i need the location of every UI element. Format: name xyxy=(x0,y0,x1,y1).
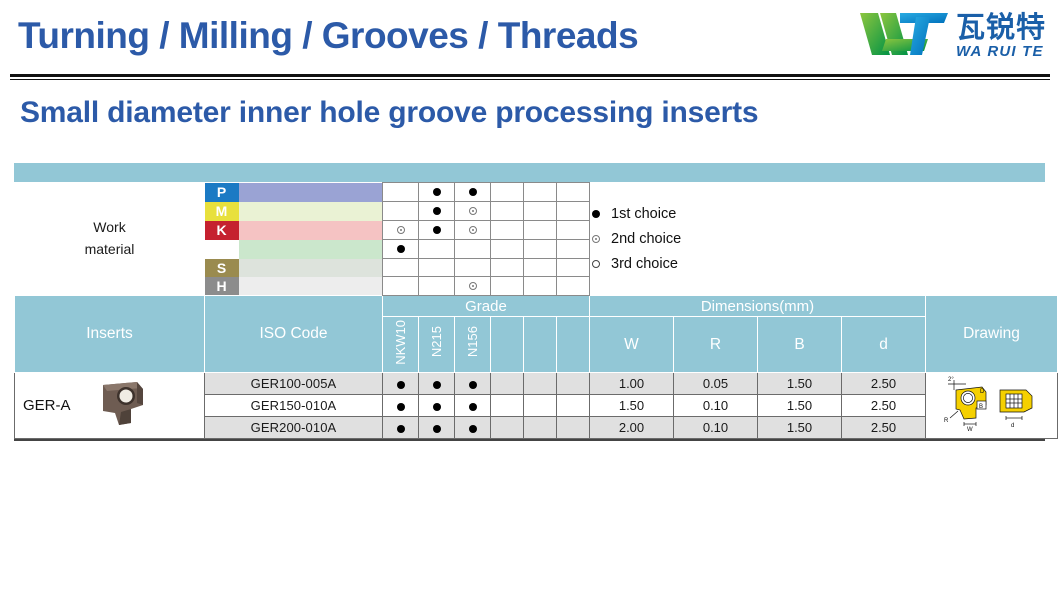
material-grade-cell xyxy=(455,259,491,277)
grade-availability-cell xyxy=(557,395,590,417)
legend-label: 2nd choice xyxy=(611,231,681,247)
material-grade-cell xyxy=(524,240,557,259)
grade-column-empty-4 xyxy=(524,317,557,373)
material-grade-cell xyxy=(491,183,524,202)
material-grade-cell xyxy=(419,183,455,202)
logo-latin-name: WA RUI TE xyxy=(956,44,1044,59)
grade-availability-cell xyxy=(491,417,524,439)
material-grade-cell xyxy=(455,221,491,240)
grade-column-empty-5 xyxy=(557,317,590,373)
legend-mark xyxy=(590,260,602,268)
mark-second-choice xyxy=(469,207,477,215)
material-swatch-h xyxy=(239,277,383,296)
legend-item: 1st choice xyxy=(590,201,1058,226)
table-header-section: Inserts ISO Code Grade Dimensions(mm) Dr… xyxy=(15,296,1058,373)
legend-label: 1st choice xyxy=(611,206,676,222)
grade-column-n156: N156 xyxy=(455,317,491,373)
iso-code-cell: GER100-005A xyxy=(205,373,383,395)
work-material-label: Workmaterial xyxy=(15,183,205,296)
spec-table: WorkmaterialP1st choice2nd choice3rd cho… xyxy=(14,182,1058,439)
material-grade-cell xyxy=(419,240,455,259)
header-grade: Grade xyxy=(383,296,590,317)
dimension-b-cell: 1.50 xyxy=(758,417,842,439)
material-grade-cell xyxy=(455,183,491,202)
material-grade-cell xyxy=(455,277,491,296)
dimension-column-r: R xyxy=(674,317,758,373)
material-swatch-k xyxy=(239,221,383,240)
material-grade-cell xyxy=(491,240,524,259)
dimension-w-cell: 2.00 xyxy=(590,417,674,439)
data-section: GER-AGER100-005A1.000.051.502.502°DBRWdG… xyxy=(15,373,1058,439)
header-inserts: Inserts xyxy=(15,296,205,373)
material-group-p: P xyxy=(205,183,239,202)
grade-label: NKW10 xyxy=(393,320,408,365)
dimension-d-cell: 2.50 xyxy=(842,373,926,395)
mark-first-choice xyxy=(433,226,441,234)
dimension-r-cell: 0.05 xyxy=(674,373,758,395)
header-row-group: Inserts ISO Code Grade Dimensions(mm) Dr… xyxy=(15,296,1058,317)
grade-availability-cell xyxy=(419,395,455,417)
grade-column-nkw10: NKW10 xyxy=(383,317,419,373)
legend-label: 3rd choice xyxy=(611,256,678,272)
header-divider-thick xyxy=(10,74,1050,77)
material-grade-cell xyxy=(491,221,524,240)
material-grade-cell xyxy=(491,259,524,277)
work-material-section: WorkmaterialP1st choice2nd choice3rd cho… xyxy=(15,183,1058,296)
dimension-w-cell: 1.00 xyxy=(590,373,674,395)
material-grade-cell xyxy=(383,277,419,296)
material-grade-cell xyxy=(524,259,557,277)
material-grade-cell xyxy=(557,240,590,259)
work-material-label-line2: material xyxy=(15,239,205,261)
mark-second-choice xyxy=(469,226,477,234)
material-grade-cell xyxy=(491,202,524,221)
material-grade-cell xyxy=(455,240,491,259)
material-group-k: K xyxy=(205,221,239,240)
grade-availability-cell xyxy=(419,373,455,395)
dimension-d-cell: 2.50 xyxy=(842,395,926,417)
mark-first-choice xyxy=(592,210,600,218)
material-grade-cell xyxy=(557,183,590,202)
grade-availability-cell xyxy=(455,395,491,417)
grade-availability-cell xyxy=(524,373,557,395)
material-swatch-s xyxy=(239,259,383,277)
material-group-s: S xyxy=(205,259,239,277)
table-row: GER-AGER100-005A1.000.051.502.502°DBRWd xyxy=(15,373,1058,395)
drawing-label-angle: 2° xyxy=(948,377,954,383)
drawing-label-w: W xyxy=(967,427,973,432)
dimension-column-d: d xyxy=(842,317,926,373)
dimension-r-cell: 0.10 xyxy=(674,395,758,417)
mark-first-choice xyxy=(397,425,405,433)
material-grade-cell xyxy=(524,221,557,240)
insert-photo xyxy=(93,379,151,427)
material-group-n: N xyxy=(205,240,239,259)
header-divider-thin xyxy=(10,79,1050,80)
top-color-band xyxy=(14,163,1045,182)
dimension-column-b: B xyxy=(758,317,842,373)
insert-series-name: GER-A xyxy=(15,397,71,414)
material-swatch-m xyxy=(239,202,383,221)
material-grade-cell xyxy=(383,240,419,259)
material-grade-cell xyxy=(383,202,419,221)
work-material-label-line1: Work xyxy=(15,217,205,239)
mark-first-choice xyxy=(433,425,441,433)
material-grade-cell xyxy=(557,202,590,221)
mark-second-choice xyxy=(397,226,405,234)
grade-column-n215: N215 xyxy=(419,317,455,373)
mark-first-choice xyxy=(433,188,441,196)
material-grade-cell xyxy=(524,277,557,296)
material-grade-cell xyxy=(419,277,455,296)
page-header: Turning / Milling / Grooves / Threads xyxy=(0,0,1060,72)
material-grade-cell xyxy=(557,221,590,240)
grade-availability-cell xyxy=(455,417,491,439)
material-grade-cell xyxy=(383,183,419,202)
material-swatch-n xyxy=(239,240,383,259)
material-grade-cell xyxy=(491,277,524,296)
material-grade-cell xyxy=(557,259,590,277)
mark-first-choice xyxy=(469,403,477,411)
wrt-monogram-icon xyxy=(856,9,952,63)
grade-availability-cell xyxy=(383,373,419,395)
material-grade-cell xyxy=(383,259,419,277)
grade-availability-cell xyxy=(455,373,491,395)
material-grade-cell xyxy=(557,277,590,296)
grade-label: N215 xyxy=(429,326,444,357)
mark-second-choice xyxy=(592,235,600,243)
grade-availability-cell xyxy=(491,395,524,417)
material-grade-cell xyxy=(419,221,455,240)
material-grade-cell xyxy=(419,202,455,221)
mark-first-choice xyxy=(397,403,405,411)
mark-first-choice xyxy=(433,207,441,215)
material-swatch-p xyxy=(239,183,383,202)
grade-availability-cell xyxy=(383,395,419,417)
grade-availability-cell xyxy=(419,417,455,439)
material-grade-cell xyxy=(419,259,455,277)
page-title: Turning / Milling / Grooves / Threads xyxy=(18,15,638,57)
grade-column-empty-3 xyxy=(491,317,524,373)
mark-third-choice xyxy=(592,260,600,268)
mark-second-choice xyxy=(469,282,477,290)
insert-technical-drawing: 2°DBRWd xyxy=(940,374,1044,432)
mark-first-choice xyxy=(397,245,405,253)
product-table: WorkmaterialP1st choice2nd choice3rd cho… xyxy=(14,163,1045,441)
table-bottom-rule xyxy=(14,439,1045,441)
material-grade-cell xyxy=(524,202,557,221)
dimension-w-cell: 1.50 xyxy=(590,395,674,417)
material-grade-cell xyxy=(455,202,491,221)
grade-availability-cell xyxy=(557,417,590,439)
grade-label: N156 xyxy=(465,326,480,357)
insert-series-cell: GER-A xyxy=(15,373,205,439)
section-subtitle: Small diameter inner hole groove process… xyxy=(20,96,758,130)
grade-availability-cell xyxy=(383,417,419,439)
dimension-r-cell: 0.10 xyxy=(674,417,758,439)
work-material-row: WorkmaterialP1st choice2nd choice3rd cho… xyxy=(15,183,1058,202)
dimension-d-cell: 2.50 xyxy=(842,417,926,439)
dimension-b-cell: 1.50 xyxy=(758,373,842,395)
mark-first-choice xyxy=(433,381,441,389)
choice-legend: 1st choice2nd choice3rd choice xyxy=(590,183,1058,296)
dimension-b-cell: 1.50 xyxy=(758,395,842,417)
mark-first-choice xyxy=(469,381,477,389)
header-drawing: Drawing xyxy=(926,296,1058,373)
legend-mark xyxy=(590,235,602,243)
iso-code-cell: GER200-010A xyxy=(205,417,383,439)
mark-first-choice xyxy=(397,381,405,389)
insert-photo-wrap xyxy=(93,379,151,432)
catalog-page: Turning / Milling / Grooves / Threads xyxy=(0,0,1060,600)
mark-first-choice xyxy=(469,188,477,196)
legend-mark xyxy=(590,210,602,218)
grade-availability-cell xyxy=(557,373,590,395)
grade-availability-cell xyxy=(524,395,557,417)
logo-chinese-name: 瓦锐特 xyxy=(956,13,1046,42)
header-dimensions: Dimensions(mm) xyxy=(590,296,926,317)
material-group-h: H xyxy=(205,277,239,296)
company-logo: 瓦锐特 WA RUI TE xyxy=(856,8,1046,64)
material-grade-cell xyxy=(524,183,557,202)
grade-availability-cell xyxy=(491,373,524,395)
grade-availability-cell xyxy=(524,417,557,439)
drawing-cell: 2°DBRWd xyxy=(926,373,1058,439)
legend-item: 2nd choice xyxy=(590,226,1058,251)
legend-item: 3rd choice xyxy=(590,251,1058,276)
drawing-label-b: B xyxy=(979,404,983,410)
dimension-column-w: W xyxy=(590,317,674,373)
drawing-label-d-major: D xyxy=(980,389,985,395)
mark-first-choice xyxy=(433,403,441,411)
mark-first-choice xyxy=(469,425,477,433)
material-grade-cell xyxy=(383,221,419,240)
drawing-label-d-minor: d xyxy=(1011,423,1014,429)
header-iso-code: ISO Code xyxy=(205,296,383,373)
logo-wordmark: 瓦锐特 WA RUI TE xyxy=(956,13,1046,59)
drawing-label-r: R xyxy=(944,418,949,424)
iso-code-cell: GER150-010A xyxy=(205,395,383,417)
material-group-m: M xyxy=(205,202,239,221)
